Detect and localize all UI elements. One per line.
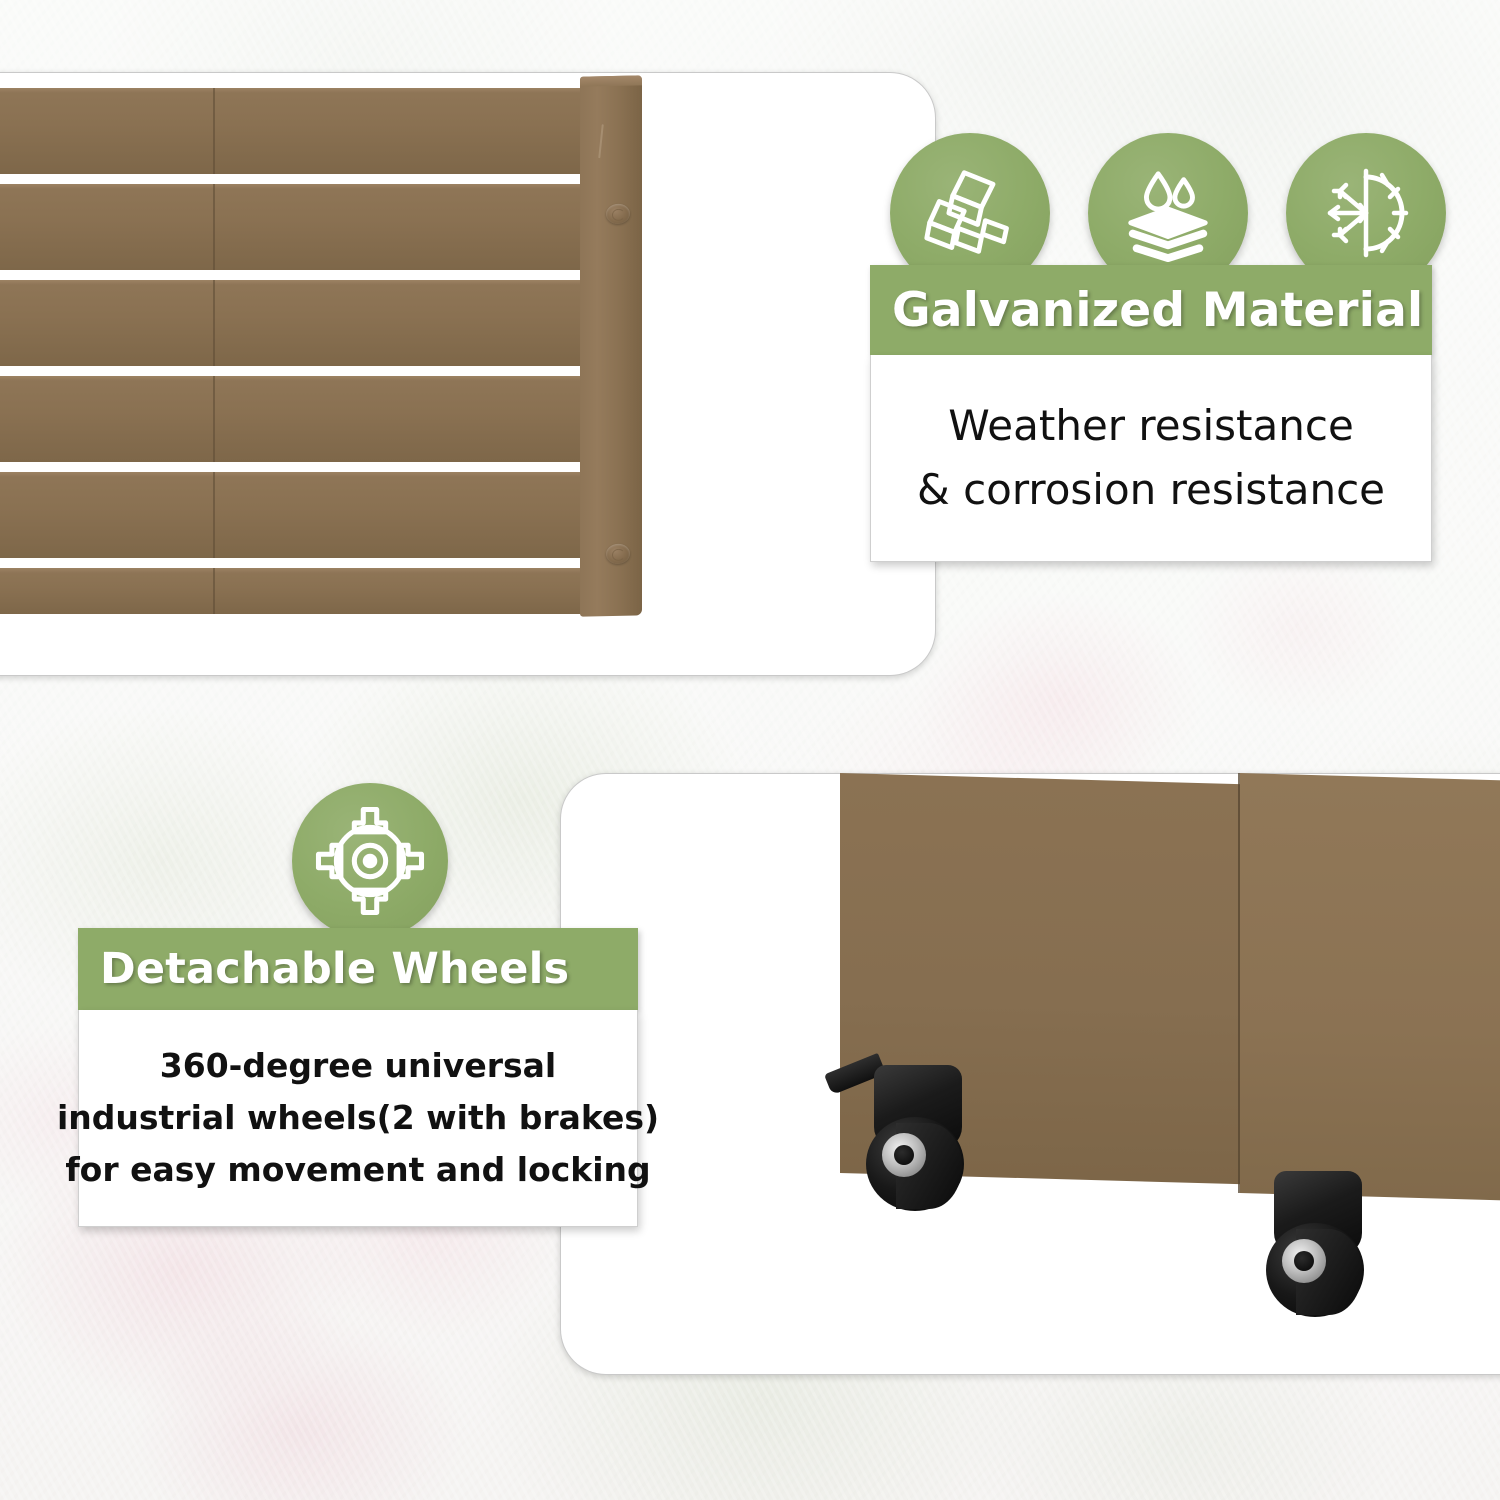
slat-panel-illustration (0, 88, 660, 608)
slat-seam (213, 472, 215, 558)
slat (0, 376, 620, 462)
slat-highlight (0, 376, 620, 381)
slat (0, 184, 620, 270)
slat-highlight (0, 280, 620, 285)
callout-body-line: for easy movement and locking (65, 1144, 650, 1196)
slat (0, 472, 620, 558)
slat (0, 568, 620, 614)
callout-body: 360-degree universal industrial wheels(2… (78, 1010, 638, 1227)
slat-highlight (0, 184, 620, 189)
rivet-icon (606, 204, 630, 225)
slat-highlight (0, 568, 620, 573)
frame-post (580, 75, 642, 616)
callout-body-line: & corrosion resistance (917, 458, 1385, 522)
slat-seam (213, 280, 215, 366)
caster-hub-core (1294, 1251, 1314, 1271)
slat-seam (213, 568, 215, 614)
callout-body: Weather resistance & corrosion resistanc… (870, 355, 1432, 562)
slat-highlight (0, 472, 620, 477)
slat-seam (213, 88, 215, 174)
slat-seam (213, 184, 215, 270)
slat-highlight (0, 88, 620, 93)
caster-hub-core (894, 1145, 914, 1165)
slat-seam (213, 376, 215, 462)
callout-body-line: Weather resistance (948, 394, 1354, 458)
caster-wheel-with-brake (860, 1065, 978, 1215)
feature-callout-galvanized: Galvanized Material Weather resistance &… (870, 265, 1432, 562)
rivet-icon (606, 544, 630, 565)
caster-wheel (1260, 1171, 1378, 1321)
callout-header-band: Galvanized Material (870, 265, 1432, 355)
callout-title: Detachable Wheels (100, 944, 569, 994)
post-cap (580, 75, 642, 86)
callout-header-band: Detachable Wheels (78, 928, 638, 1010)
feature-callout-wheels: Detachable Wheels 360-degree universal i… (78, 928, 638, 1227)
callout-body-line: industrial wheels(2 with brakes) (57, 1092, 659, 1144)
cabinet-seam (1238, 773, 1240, 1193)
caster-target-icon (292, 783, 448, 939)
caster-illustration (840, 773, 1500, 1243)
cabinet-side-panel (1240, 773, 1500, 1201)
post-scratch (598, 124, 604, 158)
callout-title: Galvanized Material (892, 283, 1423, 338)
slat (0, 280, 620, 366)
slat (0, 88, 620, 174)
callout-body-line: 360-degree universal (160, 1040, 556, 1092)
